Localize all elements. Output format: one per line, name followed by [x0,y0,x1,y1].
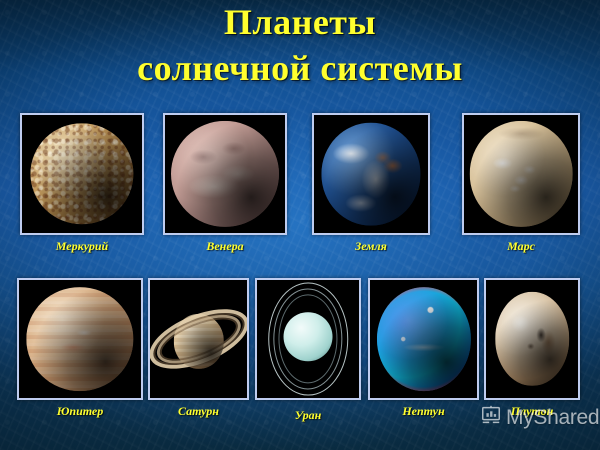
planet-image-jupiter [17,278,143,400]
title-line-1: Планеты [0,0,600,40]
jupiter-sphere [26,287,133,391]
saturn-ring-main [148,297,249,381]
slide-title: Планеты солнечной системы [0,0,600,86]
planet-label-venus: Венера [163,239,287,254]
planet-label-earth: Земля [312,239,430,254]
pluto-sphere [495,292,569,386]
planet-card-venus[interactable]: Венера [163,113,287,253]
planet-label-saturn: Сатурн [148,404,249,419]
earth-sphere [321,123,420,226]
planet-card-mars[interactable]: Марс [462,113,580,253]
neptune-sphere [376,287,470,391]
planet-image-venus [163,113,287,235]
venus-sphere [171,121,279,227]
presentation-slide: Планеты солнечной системы Меркурий Венер… [0,0,600,450]
uranus-ring-3 [278,294,337,383]
saturn-sphere [150,280,247,398]
planet-card-earth[interactable]: Земля [312,113,430,253]
planet-card-pluto[interactable]: Плутон [484,278,580,420]
planet-image-mars [462,113,580,235]
planet-image-pluto [484,278,580,400]
mercury-sphere [30,123,133,224]
planet-image-uranus [255,278,361,400]
planet-label-mars: Марс [462,239,580,254]
planet-label-uranus: Уран [255,408,361,423]
planet-image-earth [312,113,430,235]
mars-sphere [470,121,573,227]
planet-image-saturn [148,278,249,400]
planet-card-uranus[interactable]: Уран [255,278,361,420]
planet-card-mercury[interactable]: Меркурий [20,113,144,253]
planet-image-neptune [368,278,479,400]
planet-image-mercury [20,113,144,235]
planet-card-jupiter[interactable]: Юпитер [17,278,143,420]
planet-label-neptune: Нептун [368,404,479,419]
title-line-2: солнечной системы [0,40,600,86]
planet-label-jupiter: Юпитер [17,404,143,419]
neptune-limb-glow [376,287,470,391]
planet-label-mercury: Меркурий [20,239,144,254]
planet-card-neptune[interactable]: Нептун [368,278,479,420]
planet-card-saturn[interactable]: Сатурн [148,278,249,420]
planet-label-pluto: Плутон [484,404,580,419]
